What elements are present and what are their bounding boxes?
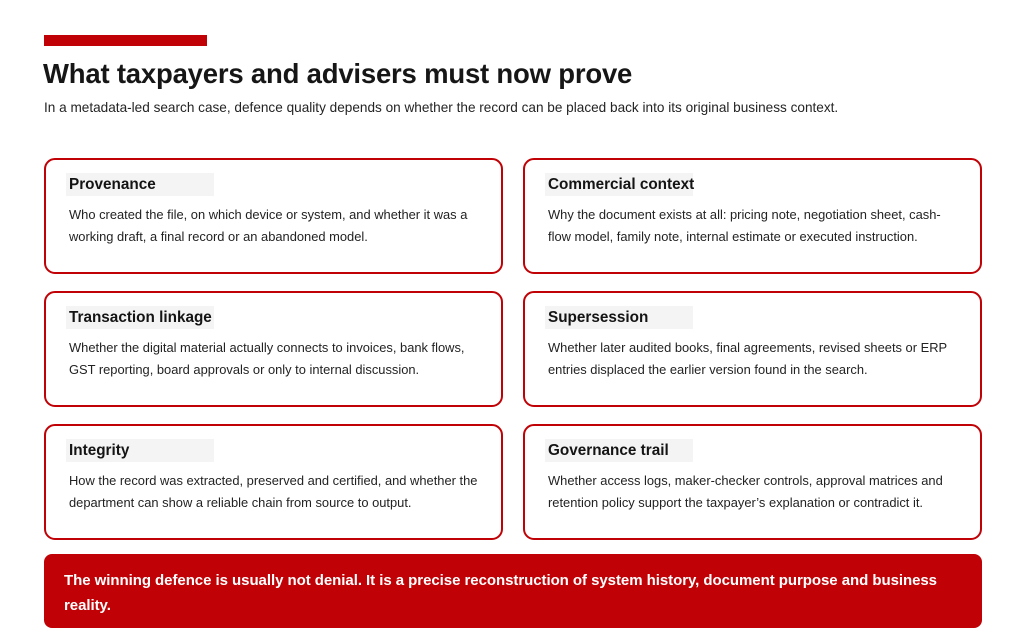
card-commercial-context: Commercial context Why the document exis…: [523, 158, 982, 274]
card-title: Supersession: [545, 306, 962, 329]
card-title-container: Integrity: [66, 439, 483, 462]
card-body: Whether later audited books, final agree…: [545, 337, 962, 380]
card-title: Provenance: [66, 173, 483, 196]
conclusion-banner: The winning defence is usually not denia…: [44, 554, 982, 628]
card-title-container: Supersession: [545, 306, 962, 329]
card-title: Integrity: [66, 439, 483, 462]
card-body: Whether the digital material actually co…: [66, 337, 483, 380]
conclusion-banner-text: The winning defence is usually not denia…: [64, 568, 962, 618]
card-body: Who created the file, on which device or…: [66, 204, 483, 247]
card-body: How the record was extracted, preserved …: [66, 470, 483, 513]
card-body: Whether access logs, maker-checker contr…: [545, 470, 962, 513]
card-title-container: Commercial context: [545, 173, 962, 196]
card-transaction-linkage: Transaction linkage Whether the digital …: [44, 291, 503, 407]
page-title: What taxpayers and advisers must now pro…: [43, 57, 983, 91]
card-title: Commercial context: [545, 173, 962, 196]
card-title-container: Transaction linkage: [66, 306, 483, 329]
card-title-container: Provenance: [66, 173, 483, 196]
card-title: Transaction linkage: [66, 306, 483, 329]
page-subtitle: In a metadata-led search case, defence q…: [44, 96, 944, 120]
card-governance-trail: Governance trail Whether access logs, ma…: [523, 424, 982, 540]
card-grid: Provenance Who created the file, on whic…: [44, 158, 982, 540]
infographic-page: What taxpayers and advisers must now pro…: [0, 0, 1024, 640]
card-supersession: Supersession Whether later audited books…: [523, 291, 982, 407]
card-title: Governance trail: [545, 439, 962, 462]
card-body: Why the document exists at all: pricing …: [545, 204, 962, 247]
accent-bar: [44, 35, 207, 46]
card-title-container: Governance trail: [545, 439, 962, 462]
card-integrity: Integrity How the record was extracted, …: [44, 424, 503, 540]
card-provenance: Provenance Who created the file, on whic…: [44, 158, 503, 274]
